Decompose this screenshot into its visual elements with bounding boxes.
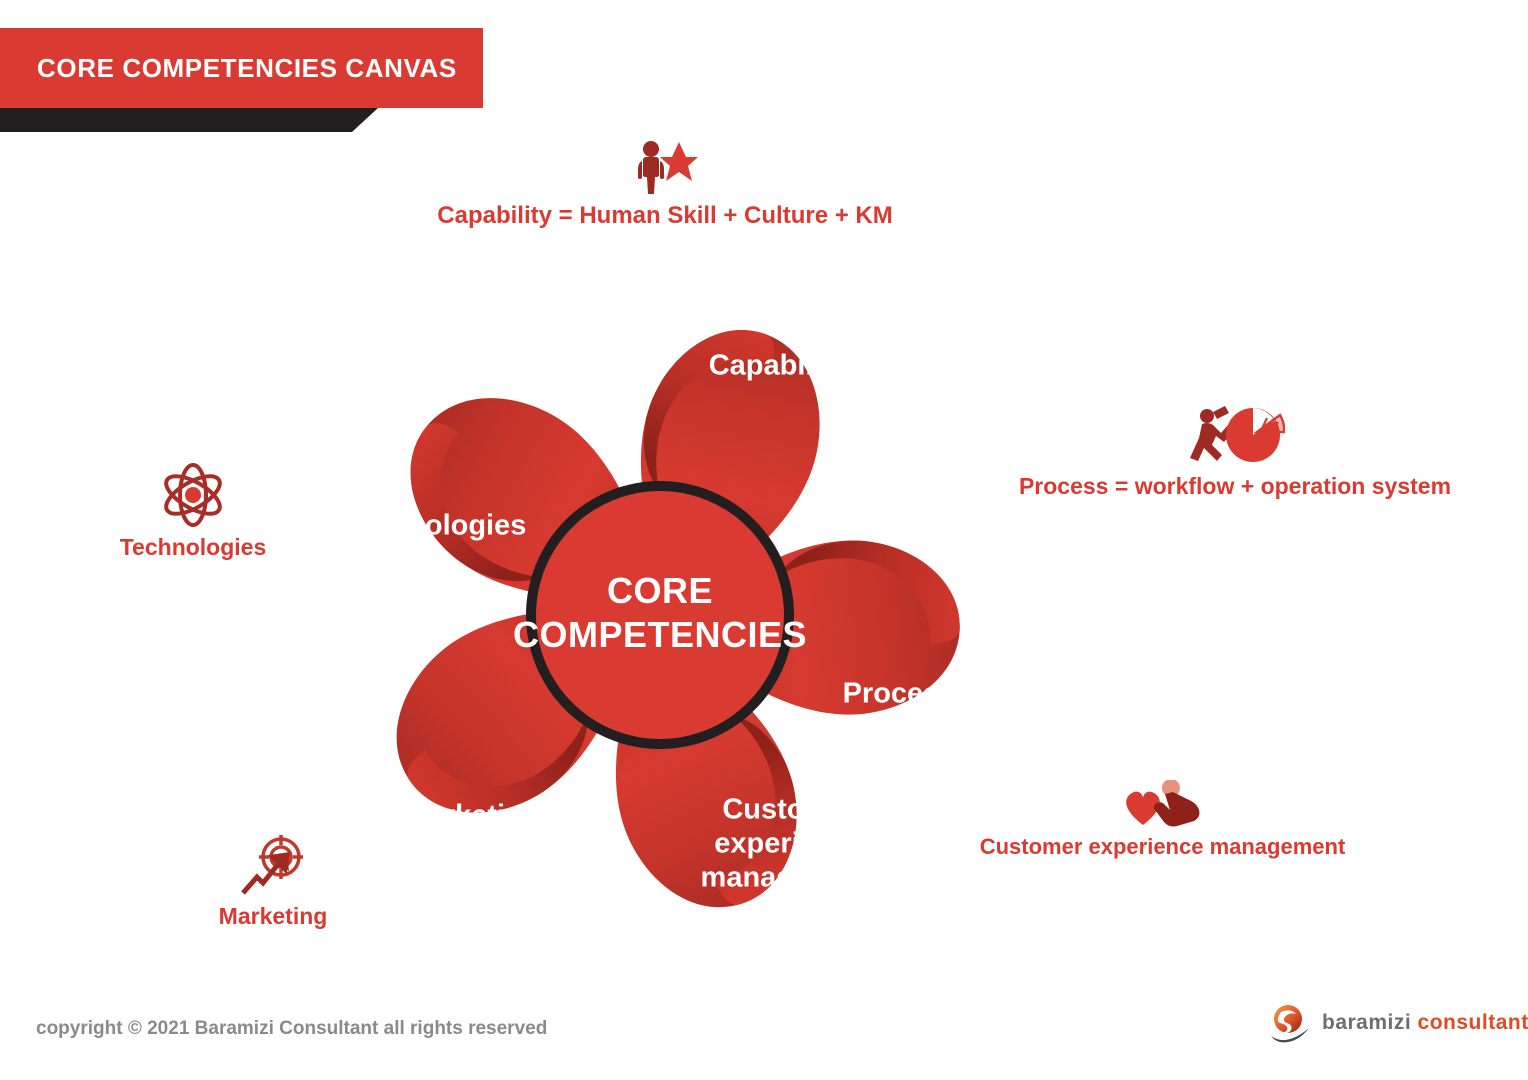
petal-label-cem-line2: experience	[714, 828, 866, 860]
annotation-process-label: Process = workflow + operation system	[1019, 473, 1451, 500]
petal-label-cem-line1: Customer	[722, 794, 857, 826]
baramizi-swirl-logo-icon	[1268, 1003, 1312, 1043]
petal-label-technologies: Technologies	[342, 510, 527, 542]
annotation-capability-label: Capability = Human Skill + Culture + KM	[437, 202, 892, 230]
core-competencies-pinwheel: CORE COMPETENCIES Capability Process Cus…	[300, 255, 1020, 975]
baramizi-logo[interactable]: baramizi consultant	[1268, 1003, 1528, 1043]
center-title-line2: COMPETENCIES	[513, 614, 807, 655]
title-underbar	[0, 108, 378, 132]
copyright-text: copyright © 2021 Baramizi Consultant all…	[36, 1018, 547, 1040]
petal-label-capability: Capability	[709, 350, 848, 382]
petal-label-cem-line3: management	[701, 862, 880, 894]
annotation-cem-label: Customer experience management	[980, 834, 1346, 860]
center-title-line1: CORE	[607, 570, 713, 611]
annotation-technologies-label: Technologies	[120, 534, 267, 561]
page-title: CORE COMPETENCIES CANVAS	[37, 53, 457, 84]
petal-label-marketing: Marketing	[404, 800, 541, 832]
atom-icon	[160, 462, 226, 528]
logo-word-consultant: consultant	[1418, 1011, 1528, 1034]
title-banner: CORE COMPETENCIES CANVAS	[0, 28, 483, 108]
logo-wordmark: baramizi consultant	[1322, 1011, 1528, 1035]
petal-label-process: Process	[843, 678, 956, 710]
annotation-technologies: Technologies	[108, 462, 278, 561]
person-star-icon	[632, 140, 698, 196]
annotation-capability: Capability = Human Skill + Culture + KM	[415, 140, 915, 230]
runner-piechart-icon	[1185, 405, 1285, 467]
canvas-root: CORE COMPETENCIES CANVAS Capability = Hu…	[0, 0, 1528, 1080]
annotation-process: Process = workflow + operation system	[1003, 405, 1467, 500]
logo-word-baramizi: baramizi	[1322, 1011, 1411, 1034]
heart-tap-icon	[1121, 780, 1205, 828]
target-arrow-icon	[239, 835, 307, 897]
